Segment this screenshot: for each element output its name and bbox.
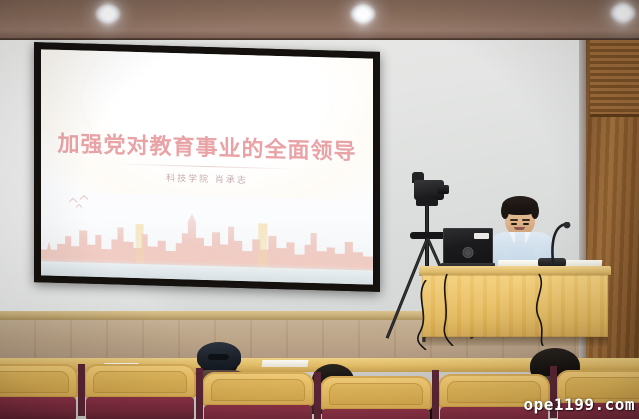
- camera-cable: [404, 280, 464, 350]
- flying-birds-icon: [67, 194, 101, 209]
- slide-subtitle: 科技学院 肖承志: [41, 167, 373, 189]
- ceiling-spotlight-right: [610, 3, 636, 23]
- projection-screen-frame: ★ 加强党对教育事业的全面领导 科技学院 肖承志: [34, 42, 380, 292]
- site-watermark: ope1199.com: [524, 395, 635, 414]
- dell-logo-icon: [463, 247, 474, 258]
- camera-lens-icon: [438, 185, 449, 194]
- mouth: [514, 227, 525, 230]
- collar-left: [509, 232, 515, 244]
- gooseneck-microphone: [548, 222, 574, 266]
- ceiling: [0, 0, 639, 42]
- projection-screen: ★ 加强党对教育事业的全面领导 科技学院 肖承志: [41, 49, 373, 284]
- audience-chair[interactable]: [84, 364, 196, 419]
- presenter-hair: [502, 196, 538, 215]
- ceiling-spotlight-center: [350, 4, 376, 24]
- audience-chair[interactable]: [320, 364, 432, 419]
- asset-label: [474, 233, 489, 239]
- ceiling-spotlight-left: [95, 4, 121, 24]
- louver-vent: [590, 40, 639, 117]
- audience-chair[interactable]: [202, 364, 314, 419]
- lecture-hall-photo: ★ 加强党对教育事业的全面领导 科技学院 肖承志: [0, 0, 639, 419]
- laptop-lid: [443, 228, 493, 264]
- audience-chair[interactable]: [0, 364, 78, 419]
- slide-divider: [114, 163, 300, 169]
- radiating-arcs: [41, 49, 373, 138]
- collar-right: [525, 232, 531, 244]
- star-emblem-icon: ★: [202, 70, 212, 81]
- laptop[interactable]: [443, 228, 493, 270]
